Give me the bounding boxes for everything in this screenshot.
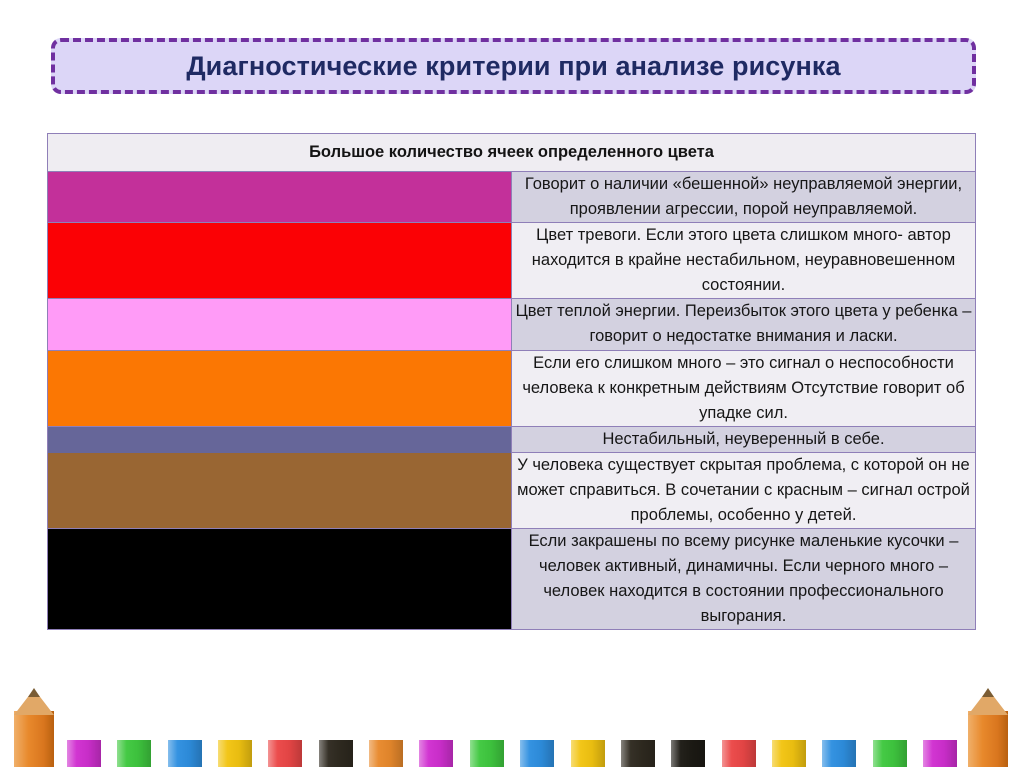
pencil-strip-gap [101, 740, 117, 767]
color-description-cell: Нестабильный, неуверенный в себе. [512, 426, 976, 452]
color-description-cell: Цвет теплой энергии. Переизбыток этого ц… [512, 299, 976, 350]
pencil-strip-gap [605, 740, 621, 767]
pencil-strip-segment [67, 740, 101, 767]
pencil-strip-segment [822, 740, 856, 767]
table-row: Цвет теплой энергии. Переизбыток этого ц… [48, 299, 976, 350]
pencil-strip-segment [873, 740, 907, 767]
pencil-strip-gap [453, 740, 469, 767]
pencil-icon-right [968, 689, 1008, 767]
pencil-strip-segment [470, 740, 504, 767]
color-swatch-light-pink [48, 299, 511, 349]
slide-canvas: Диагностические критерии при анализе рис… [0, 0, 1024, 767]
slide-title-banner: Диагностические критерии при анализе рис… [51, 38, 976, 94]
color-swatch-cell-magenta [48, 172, 512, 223]
color-description-cell: Говорит о наличии «бешенной» неуправляем… [512, 172, 976, 223]
pencil-strip-gap [504, 740, 520, 767]
pencil-body [14, 711, 54, 767]
pencil-strip-gap [705, 740, 721, 767]
table-row: Если его слишком много – это сигнал о не… [48, 350, 976, 426]
pencil-strip-segment [722, 740, 756, 767]
pencil-strip-segment [268, 740, 302, 767]
color-swatch-cell-brown [48, 452, 512, 528]
page-title: Диагностические критерии при анализе рис… [186, 51, 840, 82]
color-description-cell: Цвет тревоги. Если этого цвета слишком м… [512, 223, 976, 299]
pencil-strip-segment [117, 740, 151, 767]
color-description-cell: Если его слишком много – это сигнал о не… [512, 350, 976, 426]
pencil-strip-gap [1008, 740, 1024, 767]
pencil-strip-gap [856, 740, 872, 767]
color-swatch-cell-orange [48, 350, 512, 426]
pencil-strip-gap [403, 740, 419, 767]
color-swatch-red [48, 223, 511, 298]
color-description-cell: У человека существует скрытая проблема, … [512, 452, 976, 528]
pencil-strip-gap [151, 740, 167, 767]
color-swatch-black [48, 529, 511, 629]
pencil-strip-segment [923, 740, 957, 767]
pencil-strip-gap [202, 740, 218, 767]
criteria-table: Большое количество ячеек определенного ц… [47, 133, 976, 630]
color-swatch-cell-red [48, 223, 512, 299]
pencil-strip-segment [772, 740, 806, 767]
table-row: Говорит о наличии «бешенной» неуправляем… [48, 172, 976, 223]
pencil-strip-segment [168, 740, 202, 767]
pencil-tip [982, 688, 994, 697]
table-row: Нестабильный, неуверенный в себе. [48, 426, 976, 452]
table-header-row: Большое количество ячеек определенного ц… [48, 134, 976, 172]
pencil-strip-segment [218, 740, 252, 767]
pencil-strip-segment [520, 740, 554, 767]
pencil-strip-gap [756, 740, 772, 767]
pencil-color-strip [0, 740, 1024, 767]
pencil-icon-left [14, 689, 54, 767]
pencil-strip-gap [806, 740, 822, 767]
pencil-strip-segment [369, 740, 403, 767]
pencil-strip-segment [571, 740, 605, 767]
table-row: У человека существует скрытая проблема, … [48, 452, 976, 528]
pencil-strip-gap [907, 740, 923, 767]
color-description-cell: Если закрашены по всему рисунке маленьки… [512, 529, 976, 630]
pencil-strip-segment [671, 740, 705, 767]
pencil-strip-gap [252, 740, 268, 767]
table-row: Если закрашены по всему рисунке маленьки… [48, 529, 976, 630]
color-swatch-orange [48, 351, 511, 426]
color-swatch-magenta [48, 172, 511, 222]
pencil-tip [28, 688, 40, 697]
pencil-strip-segment [419, 740, 453, 767]
table-header-cell: Большое количество ячеек определенного ц… [48, 134, 976, 172]
criteria-table-body: Большое количество ячеек определенного ц… [48, 134, 976, 630]
pencil-strip-segment [621, 740, 655, 767]
pencil-strip-segment [319, 740, 353, 767]
color-swatch-cell-black [48, 529, 512, 630]
pencil-strip-gap [554, 740, 570, 767]
color-swatch-brown [48, 453, 511, 528]
pencil-strip-gap [353, 740, 369, 767]
pencil-strip-gap [302, 740, 318, 767]
color-swatch-cell-light-pink [48, 299, 512, 350]
table-row: Цвет тревоги. Если этого цвета слишком м… [48, 223, 976, 299]
color-swatch-cell-slate-blue [48, 426, 512, 452]
pencil-strip-gap [655, 740, 671, 767]
pencil-body [968, 711, 1008, 767]
